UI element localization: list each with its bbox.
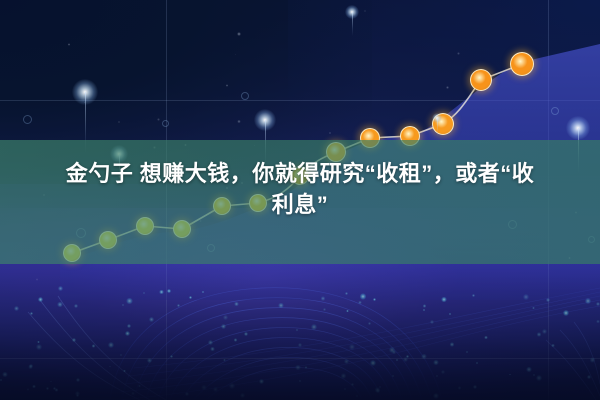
banner-image: 金勺子 想赚大钱，你就得研究“收租”，或者“收 利息” <box>0 0 600 400</box>
sparkle-particle <box>226 84 228 86</box>
sparkle-particle <box>446 86 449 89</box>
sparkle-particle <box>68 43 70 45</box>
sparkle-particle <box>364 10 366 12</box>
sparkle-particle <box>457 52 460 55</box>
caption-line-1: 金勺子 想赚大钱，你就得研究“收租”，或者“收 <box>22 158 578 189</box>
sparkle-particle <box>118 121 119 122</box>
sparkle-particle <box>157 118 159 120</box>
sparkle-particle <box>235 54 236 55</box>
caption-line-2: 利息” <box>22 189 578 220</box>
caption-text-block: 金勺子 想赚大钱，你就得研究“收租”，或者“收 利息” <box>0 158 600 220</box>
sparkle-particle <box>237 32 241 36</box>
sparkle-particle <box>329 132 331 134</box>
background-bottom-fade <box>0 264 600 400</box>
sparkle-particle <box>237 120 241 124</box>
sparkle-particle <box>84 102 85 103</box>
